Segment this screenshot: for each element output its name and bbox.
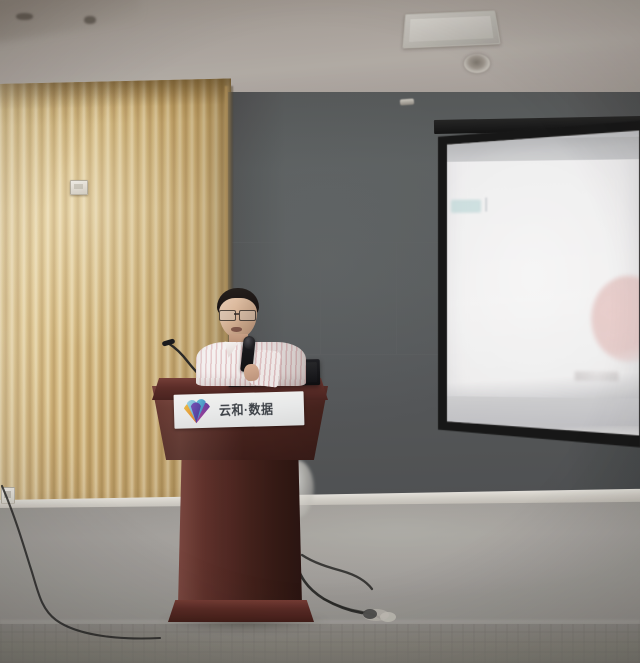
speaker-person [188, 288, 316, 384]
slide-faint-text [575, 371, 618, 381]
yunhe-butterfly-logo [179, 397, 216, 426]
wall-switch-plate[interactable] [70, 180, 88, 195]
ceiling-wall-clip-icon [400, 99, 414, 106]
ceiling-sensor-icon [84, 16, 96, 24]
downlight-icon [464, 54, 490, 73]
glasses-lens-left [219, 310, 236, 321]
slide-bottom-band [447, 396, 639, 426]
ceiling-sensor-icon [16, 13, 33, 20]
wall-panel-seam [396, 242, 397, 354]
podium-sign-text: 云和·数据 [219, 403, 274, 417]
glasses-lens-right [239, 310, 256, 321]
slide-badge-icon [451, 200, 481, 213]
wall-panel-seam [232, 242, 462, 243]
projection-screen-surface [447, 130, 639, 435]
floor-cable-right [250, 455, 430, 655]
air-vent-icon [402, 10, 500, 48]
podium-sign: 云和·数据 [174, 391, 305, 429]
photo-scene: 云和·数据 [0, 0, 640, 663]
slide-divider [485, 198, 487, 212]
speaker-mouth [231, 327, 242, 332]
glasses-icon [219, 310, 258, 319]
ceiling-corner-shadow [0, 0, 143, 43]
projection-screen[interactable] [438, 120, 640, 448]
speaker-hand [243, 363, 260, 381]
wall-panel-seam [320, 242, 321, 354]
